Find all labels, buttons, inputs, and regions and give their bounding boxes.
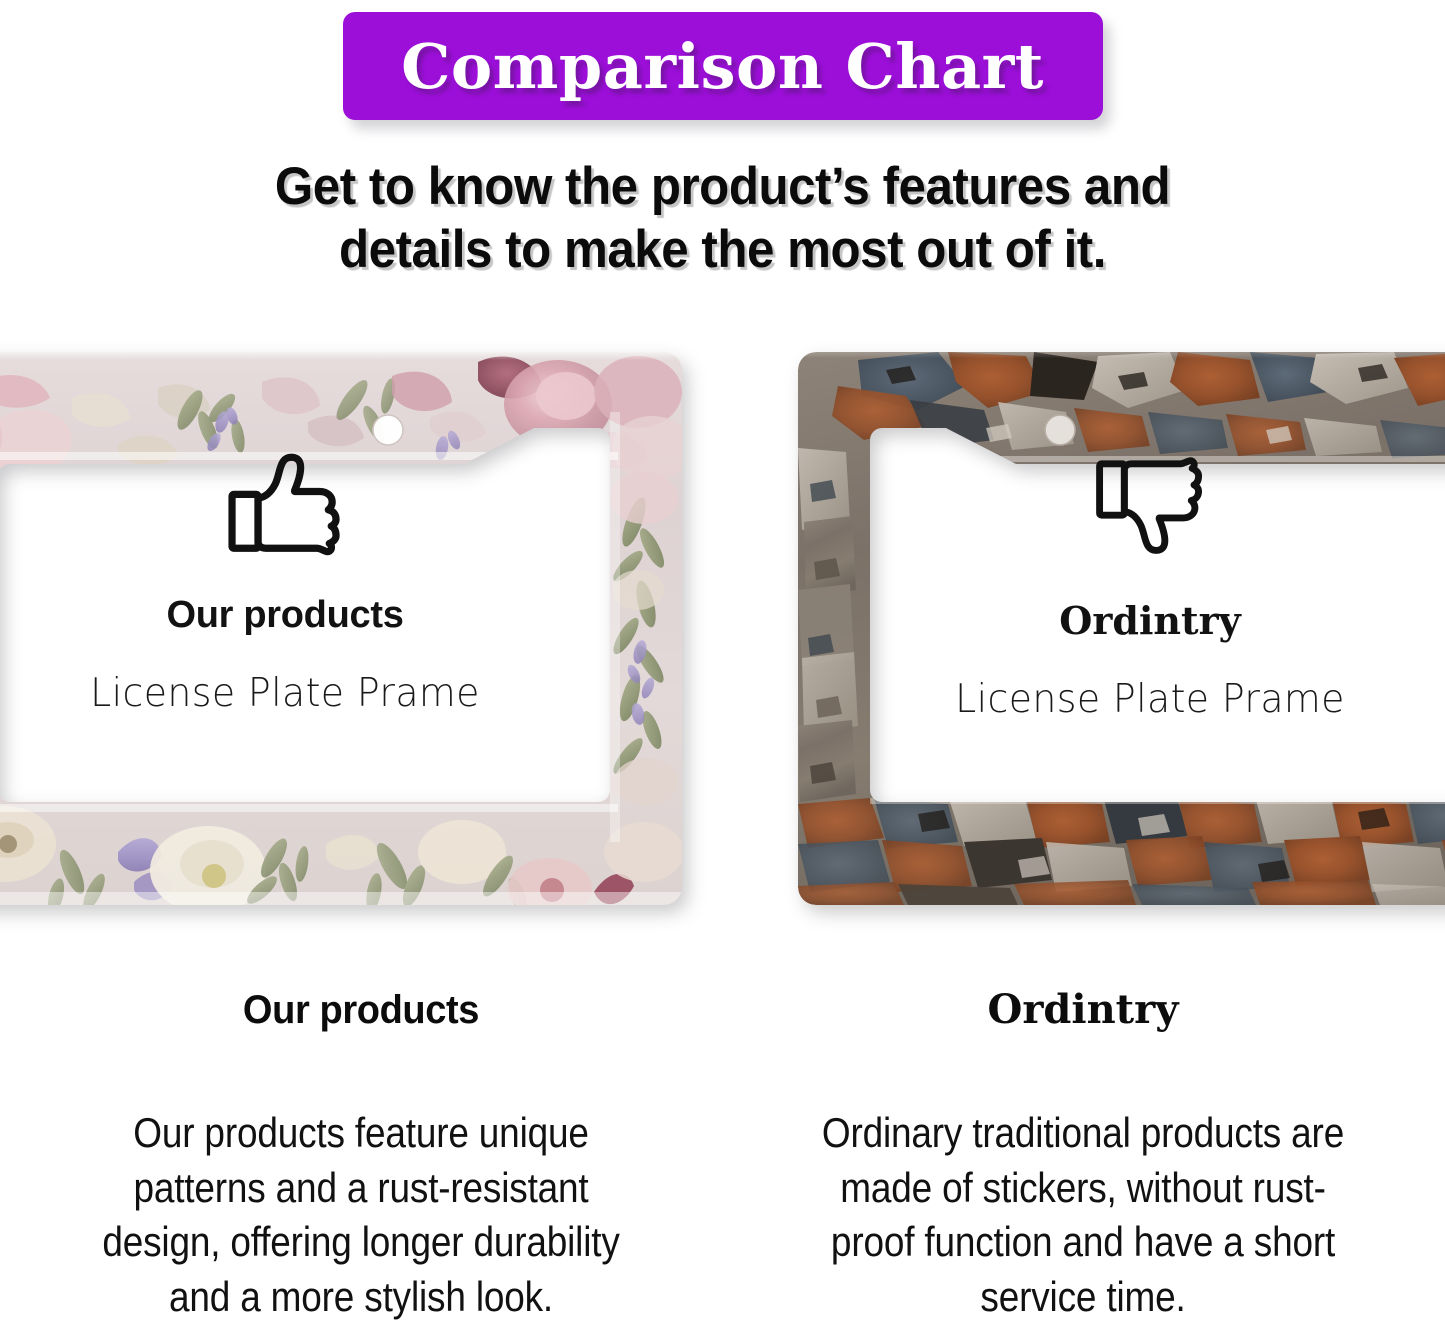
column-description: Ordinary traditional products are made o… — [801, 1106, 1366, 1324]
banner-container: Comparison Chart — [0, 12, 1445, 120]
comparison-chart-banner: Comparison Chart — [343, 12, 1103, 120]
comparison-column-our-products: Our products Our products feature unique… — [0, 988, 722, 1324]
subheading-line-1: Get to know the product’s features and — [51, 156, 1395, 219]
product-frame-ordintry — [798, 352, 1445, 905]
comparison-column-ordintry: Ordintry Ordinary traditional products a… — [722, 988, 1444, 1324]
subheading-line-2: details to make the most out of it. — [51, 219, 1395, 282]
column-heading: Ordintry — [762, 988, 1404, 1032]
page-title: Comparison Chart — [401, 30, 1044, 103]
column-description: Our products feature unique patterns and… — [79, 1106, 644, 1324]
subheading: Get to know the product’s features and d… — [51, 156, 1395, 281]
comparison-columns: Our products Our products feature unique… — [0, 988, 1445, 1324]
floral-license-plate-frame — [0, 352, 682, 905]
column-heading: Our products — [56, 988, 666, 1032]
product-frame-our-products — [0, 352, 682, 905]
rust-license-plate-frame — [798, 352, 1445, 905]
